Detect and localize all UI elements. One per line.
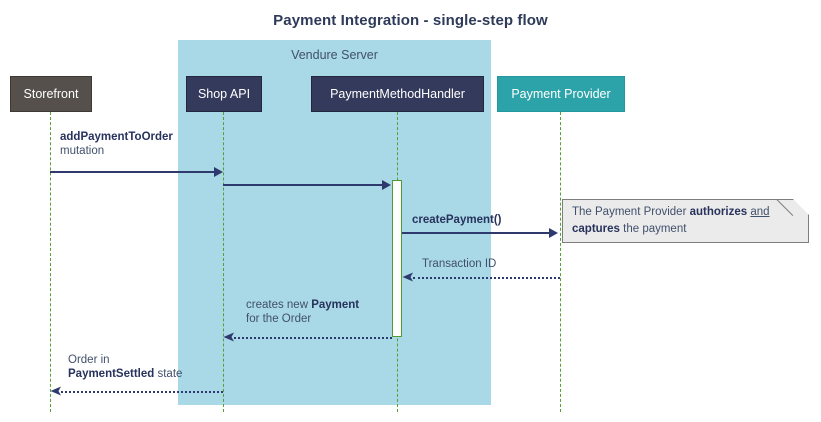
message-label-transaction-id: Transaction ID xyxy=(422,257,496,271)
note-part2: the payment xyxy=(620,223,686,235)
participant-storefront-label: Storefront xyxy=(24,87,79,101)
message-line-transaction-id xyxy=(413,277,560,279)
lifeline-shop-api xyxy=(223,112,224,412)
participant-shop-api[interactable]: Shop API xyxy=(186,76,262,112)
arrowhead-right-icon xyxy=(382,180,391,190)
message-creates-new-pre: creates new xyxy=(246,299,311,311)
message-creates-new-bold: Payment xyxy=(311,299,359,311)
message-add-payment-to-order-sub: mutation xyxy=(60,145,104,157)
arrowhead-left-icon xyxy=(223,331,234,342)
diagram-title: Payment Integration - single-step flow xyxy=(0,12,821,29)
message-order-in-text: Order in xyxy=(68,354,110,366)
lifeline-storefront xyxy=(50,112,51,412)
participant-payment-method-handler-label: PaymentMethodHandler xyxy=(330,87,465,101)
participant-shop-api-label: Shop API xyxy=(198,87,250,101)
participant-payment-provider-label: Payment Provider xyxy=(511,87,610,101)
message-add-payment-to-order-bold: addPaymentToOrder xyxy=(60,131,173,143)
message-line-creates-new-payment xyxy=(234,337,392,339)
participant-payment-provider[interactable]: Payment Provider xyxy=(497,76,625,112)
participant-payment-method-handler[interactable]: PaymentMethodHandler xyxy=(311,76,484,112)
arrowhead-left-icon xyxy=(50,385,61,396)
note-bold-authorizes: authorizes xyxy=(690,206,748,218)
message-payment-settled-bold: PaymentSettled xyxy=(68,368,154,380)
note-part1: The Payment Provider xyxy=(572,206,690,218)
message-label-creates-new-payment: creates new Payment for the Order xyxy=(246,298,359,326)
note-bold-captures: captures xyxy=(572,223,620,235)
sequence-diagram: Payment Integration - single-step flow V… xyxy=(0,0,821,422)
participant-storefront[interactable]: Storefront xyxy=(10,76,92,112)
message-line-shop-api-to-handler xyxy=(223,184,383,186)
message-label-create-payment: createPayment() xyxy=(412,213,501,227)
arrowhead-left-icon xyxy=(402,271,413,282)
message-line-order-payment-settled xyxy=(61,391,223,393)
note-payment-provider-text: The Payment Provider authorizes and capt… xyxy=(572,204,802,238)
activation-bar-payment-method-handler xyxy=(392,180,402,337)
note-underlined-and: and xyxy=(750,206,769,218)
message-label-add-payment-to-order: addPaymentToOrder mutation xyxy=(60,130,173,158)
arrowhead-right-icon xyxy=(214,167,223,177)
message-label-order-payment-settled: Order in PaymentSettled state xyxy=(68,353,182,381)
message-transaction-id-text: Transaction ID xyxy=(422,258,496,270)
message-line-add-payment-to-order xyxy=(50,171,215,173)
message-creates-new-sub: for the Order xyxy=(246,313,311,325)
group-label: Vendure Server xyxy=(178,48,491,62)
lifeline-payment-provider xyxy=(560,112,561,412)
arrowhead-right-icon xyxy=(549,228,558,238)
message-line-create-payment xyxy=(402,232,550,234)
message-create-payment-bold: createPayment() xyxy=(412,214,501,226)
message-state-text: state xyxy=(154,368,182,380)
